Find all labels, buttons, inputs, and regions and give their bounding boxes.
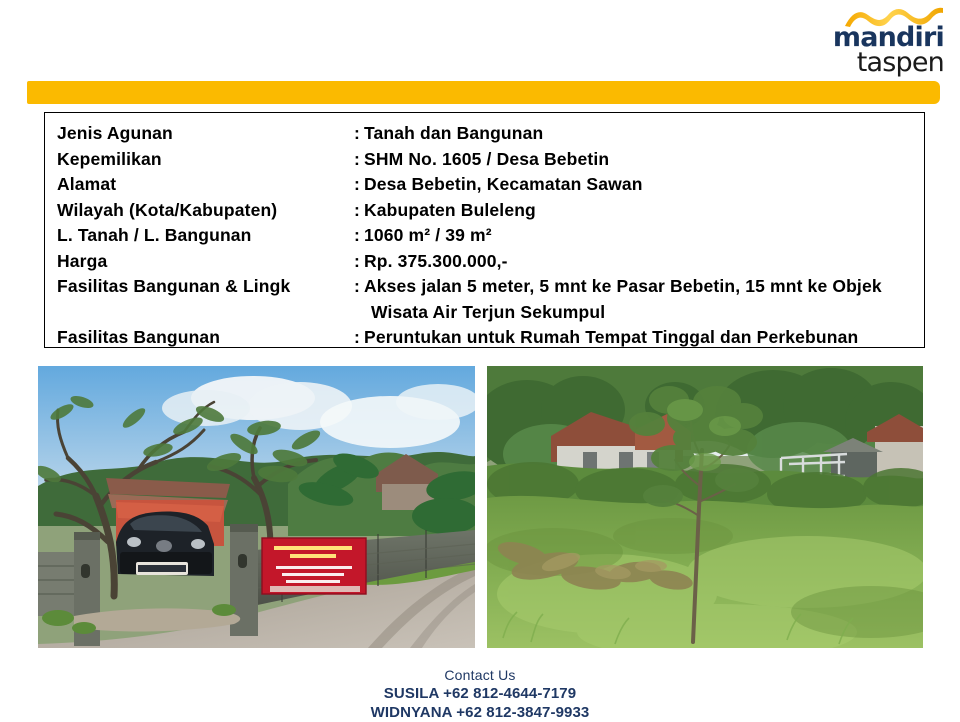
row-label: Wilayah (Kota/Kabupaten): [45, 198, 354, 224]
logo-wordmark-taspen: taspen: [818, 49, 944, 76]
row-value: :Rp. 375.300.000,-: [354, 249, 924, 275]
table-row: Fasilitas Bangunan & Lingk :Akses jalan …: [45, 274, 924, 325]
property-gate-photo-graphic: [38, 366, 475, 648]
row-value: :Kabupaten Buleleng: [354, 198, 924, 224]
row-value-text: Kabupaten Buleleng: [364, 200, 536, 220]
contact-line-susila[interactable]: SUSILA +62 812-4644-7179: [0, 684, 960, 703]
row-value: :Akses jalan 5 meter, 5 mnt ke Pasar Beb…: [354, 274, 924, 325]
property-land-photo: [487, 366, 923, 648]
header-accent-band: [27, 81, 940, 104]
row-label: L. Tanah / L. Bangunan: [45, 223, 354, 249]
row-value-text: Tanah dan Bangunan: [364, 123, 543, 143]
row-value: :Tanah dan Bangunan: [354, 121, 924, 147]
row-value-text: Desa Bebetin, Kecamatan Sawan: [364, 174, 643, 194]
colon-separator: :: [354, 274, 364, 300]
row-value-text: Rp. 375.300.000,-: [364, 251, 508, 271]
row-label: Kepemilikan: [45, 147, 354, 173]
row-value-text: SHM No. 1605 / Desa Bebetin: [364, 149, 609, 169]
colon-separator: :: [354, 325, 364, 351]
colon-separator: :: [354, 198, 364, 224]
colon-separator: :: [354, 223, 364, 249]
row-value-continuation: Wisata Air Terjun Sekumpul: [354, 300, 924, 326]
colon-separator: :: [354, 172, 364, 198]
colon-separator: :: [354, 249, 364, 275]
table-row: Harga :Rp. 375.300.000,-: [45, 249, 924, 275]
table-row: Fasilitas Bangunan :Peruntukan untuk Rum…: [45, 325, 924, 351]
mandiri-taspen-logo: mandiri taspen: [818, 6, 944, 72]
row-value-text: Peruntukan untuk Rumah Tempat Tinggal da…: [364, 327, 858, 347]
table-row: Jenis Agunan :Tanah dan Bangunan: [45, 121, 924, 147]
row-value: :SHM No. 1605 / Desa Bebetin: [354, 147, 924, 173]
table-body: Jenis Agunan :Tanah dan Bangunan Kepemil…: [45, 121, 924, 351]
table-row: Wilayah (Kota/Kabupaten) :Kabupaten Bule…: [45, 198, 924, 224]
contact-block: Contact Us SUSILA +62 812-4644-7179 WIDN…: [0, 666, 960, 722]
collateral-detail-table: Jenis Agunan :Tanah dan Bangunan Kepemil…: [44, 112, 925, 348]
row-value: :Desa Bebetin, Kecamatan Sawan: [354, 172, 924, 198]
row-label: Fasilitas Bangunan & Lingk: [45, 274, 354, 325]
row-value: :Peruntukan untuk Rumah Tempat Tinggal d…: [354, 325, 924, 351]
table-row: L. Tanah / L. Bangunan :1060 m² / 39 m²: [45, 223, 924, 249]
row-label: Jenis Agunan: [45, 121, 354, 147]
row-label: Harga: [45, 249, 354, 275]
row-label: Alamat: [45, 172, 354, 198]
table-row: Alamat :Desa Bebetin, Kecamatan Sawan: [45, 172, 924, 198]
row-value: :1060 m² / 39 m²: [354, 223, 924, 249]
row-label: Fasilitas Bangunan: [45, 325, 354, 351]
row-value-text: Akses jalan 5 meter, 5 mnt ke Pasar Bebe…: [364, 276, 882, 296]
colon-separator: :: [354, 121, 364, 147]
property-land-photo-graphic: [487, 366, 923, 648]
row-value-text: 1060 m² / 39 m²: [364, 225, 492, 245]
colon-separator: :: [354, 147, 364, 173]
contact-line-widnyana[interactable]: WIDNYANA +62 812-3847-9933: [0, 703, 960, 722]
property-gate-photo: [38, 366, 475, 648]
contact-title: Contact Us: [0, 666, 960, 684]
table-row: Kepemilikan :SHM No. 1605 / Desa Bebetin: [45, 147, 924, 173]
